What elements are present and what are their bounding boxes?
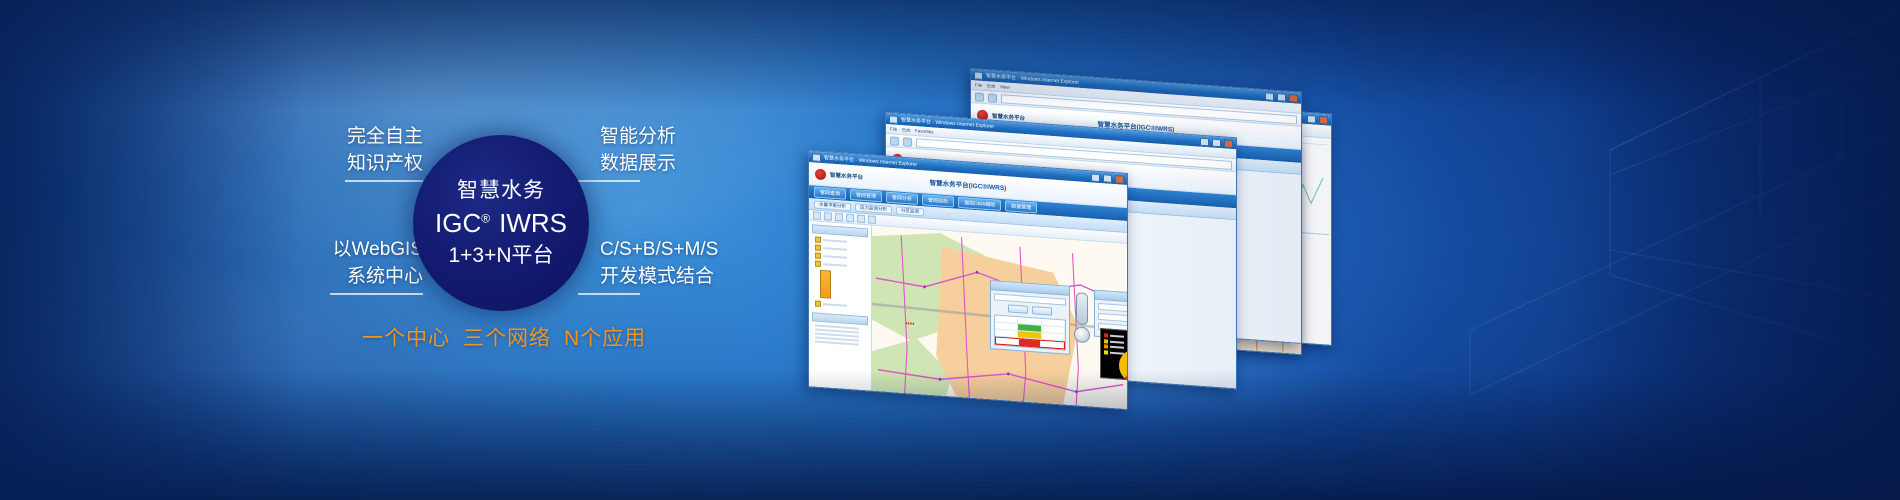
registered-trademark-icon: ® (481, 211, 490, 225)
feature-label-line1: C/S+B/S+M/S (600, 236, 718, 263)
feature-label-line2: 知识产权 (303, 150, 423, 177)
product-prefix: IGC (435, 208, 481, 238)
connector-bottom-left (330, 293, 423, 295)
center-product-name: IGC®IWRS (435, 210, 567, 236)
banner-stage: 智慧水务平台(IGC®IWRS) 智慧水务平台(IGC®IWRS) (0, 0, 1900, 500)
feature-label-top-left: 完全自主 知识产权 (303, 123, 423, 177)
center-badge: 智慧水务 IGC®IWRS 1+3+N平台 (413, 135, 589, 311)
tagline-part-1: 一个中心 (362, 327, 450, 350)
feature-label-line1: 完全自主 (303, 123, 423, 150)
connector-top-right (578, 180, 640, 182)
feature-label-bottom-left: 以WebGIS 系统中心 (283, 236, 423, 290)
concept-diagram: 完全自主 知识产权 以WebGIS 系统中心 智能分析 数据展示 C/S+B/S… (0, 0, 820, 500)
feature-label-line1: 智能分析 (600, 123, 676, 150)
tagline-part-2: 三个网络 (463, 327, 551, 350)
feature-label-line2: 开发模式结合 (600, 263, 718, 290)
tagline: 一个中心三个网络N个应用 (362, 322, 646, 352)
connector-bottom-right (578, 293, 640, 295)
tagline-part-3: N个应用 (564, 327, 646, 350)
feature-label-line2: 系统中心 (283, 263, 423, 290)
feature-label-top-right: 智能分析 数据展示 (600, 123, 676, 177)
feature-label-line2: 数据展示 (600, 150, 676, 177)
feature-label-bottom-right: C/S+B/S+M/S 开发模式结合 (600, 236, 718, 290)
connector-top-left (345, 180, 423, 182)
center-title: 智慧水务 (457, 180, 545, 201)
center-platform-label: 1+3+N平台 (448, 245, 553, 266)
product-suffix: IWRS (499, 208, 567, 238)
feature-label-line1: 以WebGIS (283, 236, 423, 263)
